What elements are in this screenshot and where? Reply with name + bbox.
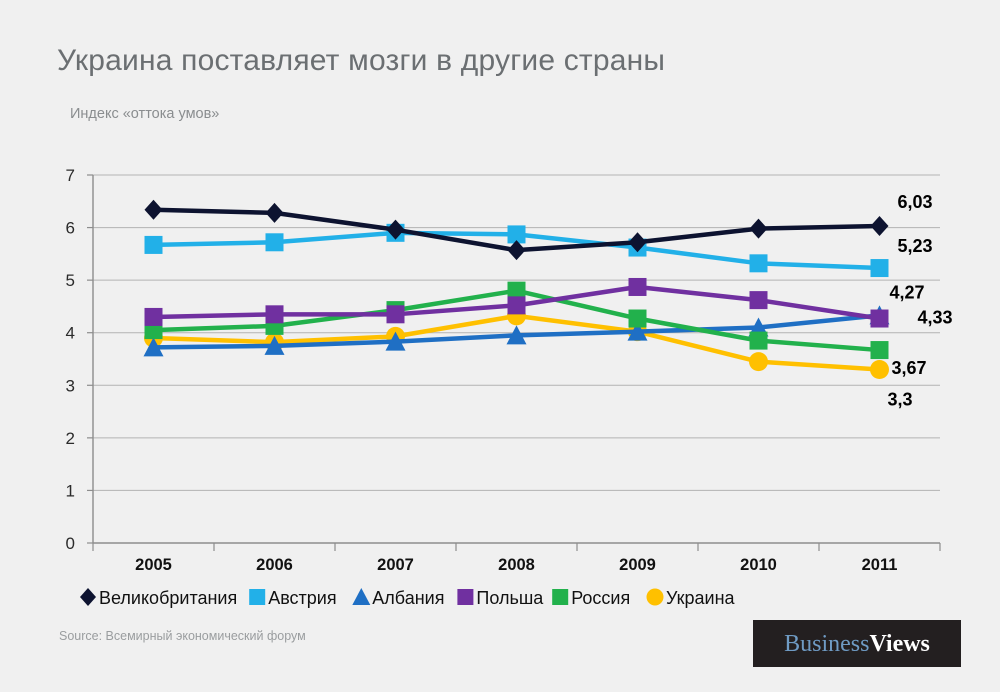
y-axis-tick-label: 3	[66, 376, 75, 395]
series-end-value-label: 6,03	[898, 192, 933, 212]
data-point-marker-square	[145, 236, 163, 254]
x-axis-tick-label: 2010	[740, 556, 777, 574]
y-axis-tick-label: 4	[66, 324, 75, 343]
data-point-marker-diamond	[145, 200, 163, 220]
y-axis-tick-label: 0	[66, 534, 75, 553]
y-axis-tick-label: 7	[66, 166, 75, 185]
series-end-value-label: 4,33	[918, 307, 953, 327]
legend-item-label: Албания	[372, 588, 444, 608]
data-point-marker-square	[871, 310, 889, 328]
series-end-value-label: 3,3	[888, 390, 913, 410]
x-axis-tick-label: 2005	[135, 556, 172, 574]
legend-item-ukraine[interactable]: Украина	[647, 588, 736, 608]
x-axis-tick-label: 2007	[377, 556, 414, 574]
legend-item-label: Россия	[571, 588, 630, 608]
data-point-marker-circle	[749, 352, 768, 371]
legend-item-label: Великобритания	[99, 588, 237, 608]
x-axis-labels: 2005200620072008200920102011	[135, 556, 897, 574]
logo-views-text: Views	[869, 631, 929, 657]
data-point-marker-square	[457, 589, 473, 605]
data-point-marker-square	[387, 305, 405, 323]
legend-item-austria[interactable]: Австрия	[249, 588, 336, 608]
y-gridlines: 01234567	[66, 166, 940, 553]
legend-item-uk[interactable]: Великобритания	[80, 588, 237, 608]
data-point-marker-square	[629, 310, 647, 328]
source-note: Source: Всемирный экономический форум	[59, 629, 306, 643]
data-point-marker-square	[266, 305, 284, 323]
data-point-marker-square	[871, 259, 889, 277]
legend-item-russia[interactable]: Россия	[552, 588, 630, 608]
data-point-marker-square	[249, 589, 265, 605]
data-point-marker-diamond	[80, 588, 96, 606]
series-end-value-label: 3,67	[892, 358, 927, 378]
logo-business-text: Business	[784, 631, 869, 657]
data-point-marker-triangle	[352, 588, 370, 605]
data-point-marker-square	[145, 308, 163, 326]
legend-item-label: Австрия	[268, 588, 336, 608]
data-point-marker-circle	[870, 360, 889, 379]
legend-item-poland[interactable]: Польша	[457, 588, 544, 608]
chart-page: Украина поставляет мозги в другие страны…	[0, 0, 1000, 692]
data-point-marker-square	[508, 296, 526, 314]
x-axis-tick-label: 2011	[862, 556, 898, 574]
x-axis-tick-label: 2008	[498, 556, 535, 574]
legend-item-albania[interactable]: Албания	[352, 588, 444, 608]
data-point-marker-diamond	[266, 203, 284, 223]
y-axis-tick-label: 5	[66, 271, 75, 290]
data-point-marker-square	[266, 233, 284, 251]
data-point-marker-square	[552, 589, 568, 605]
series-end-value-label: 5,23	[898, 236, 933, 256]
x-axis-tick-label: 2006	[256, 556, 293, 574]
line-chart: 0123456720052006200720082009201020116,03…	[0, 0, 1000, 620]
chart-legend: ВеликобританияАвстрияАлбанияПольшаРоссия…	[80, 588, 736, 608]
data-point-marker-square	[629, 278, 647, 296]
data-point-marker-square	[750, 332, 768, 350]
x-axis-tick-label: 2009	[619, 556, 656, 574]
data-point-marker-diamond	[871, 216, 889, 236]
data-point-marker-square	[750, 291, 768, 309]
legend-item-label: Украина	[666, 588, 736, 608]
data-point-marker-square	[750, 254, 768, 272]
data-point-marker-circle	[647, 589, 664, 606]
data-point-marker-square	[871, 341, 889, 359]
y-axis-tick-label: 2	[66, 429, 75, 448]
end-value-labels: 6,035,234,274,333,673,3	[888, 192, 953, 410]
data-point-marker-diamond	[750, 219, 768, 239]
legend-item-label: Польша	[476, 588, 544, 608]
series-end-value-label: 4,27	[890, 283, 925, 303]
y-axis-tick-label: 6	[66, 219, 75, 238]
businessviews-logo: BusinessViews	[753, 620, 961, 667]
y-axis-tick-label: 1	[66, 481, 75, 500]
